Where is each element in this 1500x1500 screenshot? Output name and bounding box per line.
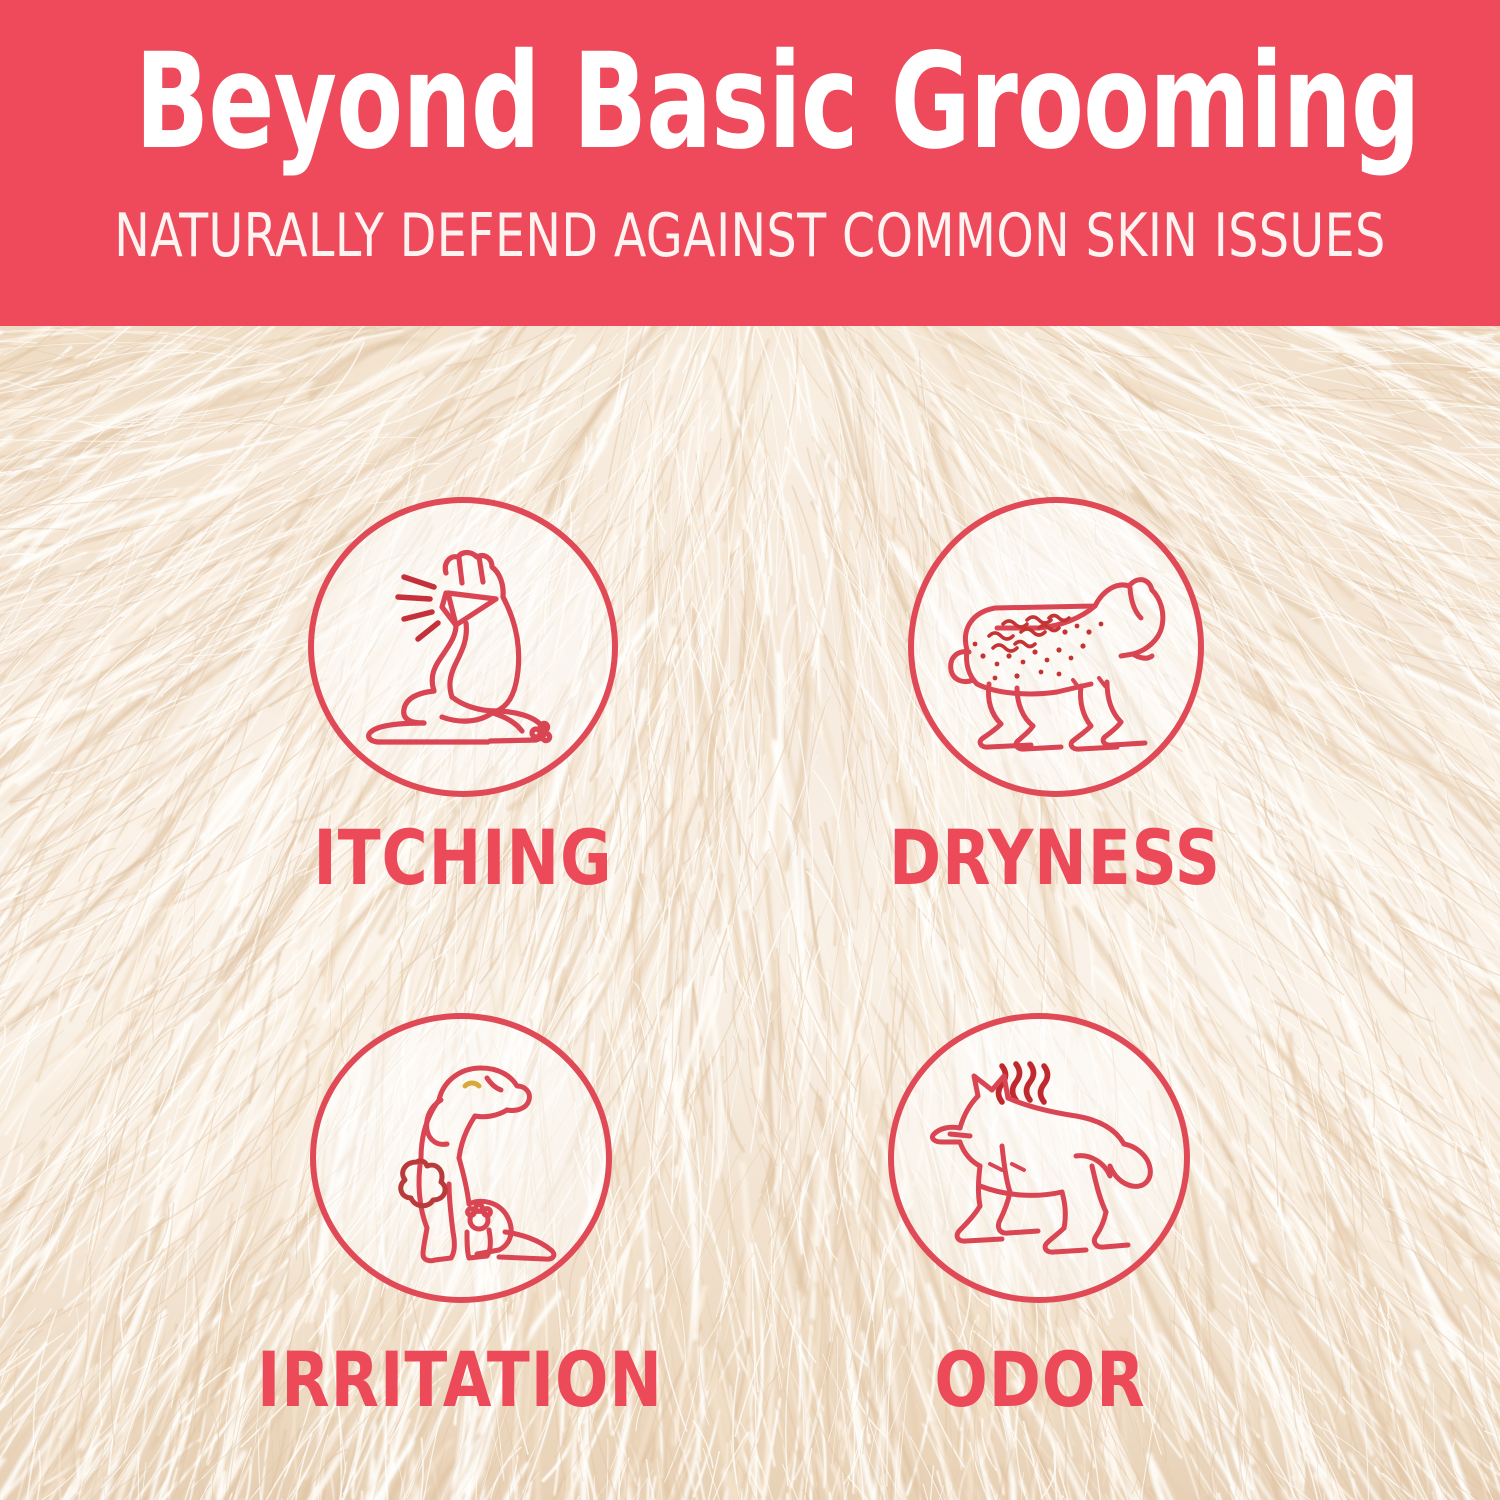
product-infographic: Beyond Basic Grooming NATURALLY DEFEND A… [0, 0, 1500, 1500]
benefit-label-odor: ODOR [833, 1340, 1247, 1420]
benefit-icon-circle-itching [308, 497, 618, 797]
benefit-icon-circle-irritation [310, 1013, 612, 1303]
dog-sitting-rash-icon [339, 1042, 583, 1274]
dog-scratching-icon [338, 527, 588, 767]
header-banner: Beyond Basic Grooming NATURALLY DEFEND A… [0, 0, 1500, 326]
benefit-label-dryness: DRYNESS [848, 818, 1262, 898]
page-title: Beyond Basic Grooming [135, 42, 1365, 162]
dog-odor-lines-icon [916, 1046, 1162, 1270]
page-subtitle: NATURALLY DEFEND AGAINST COMMON SKIN ISS… [90, 205, 1410, 267]
dog-flaky-skin-icon [931, 532, 1181, 762]
benefit-label-irritation: IRRITATION [253, 1340, 667, 1420]
benefit-icon-circle-dryness [908, 497, 1204, 797]
benefit-label-itching: ITCHING [256, 818, 670, 898]
benefit-icon-circle-odor [888, 1013, 1190, 1303]
